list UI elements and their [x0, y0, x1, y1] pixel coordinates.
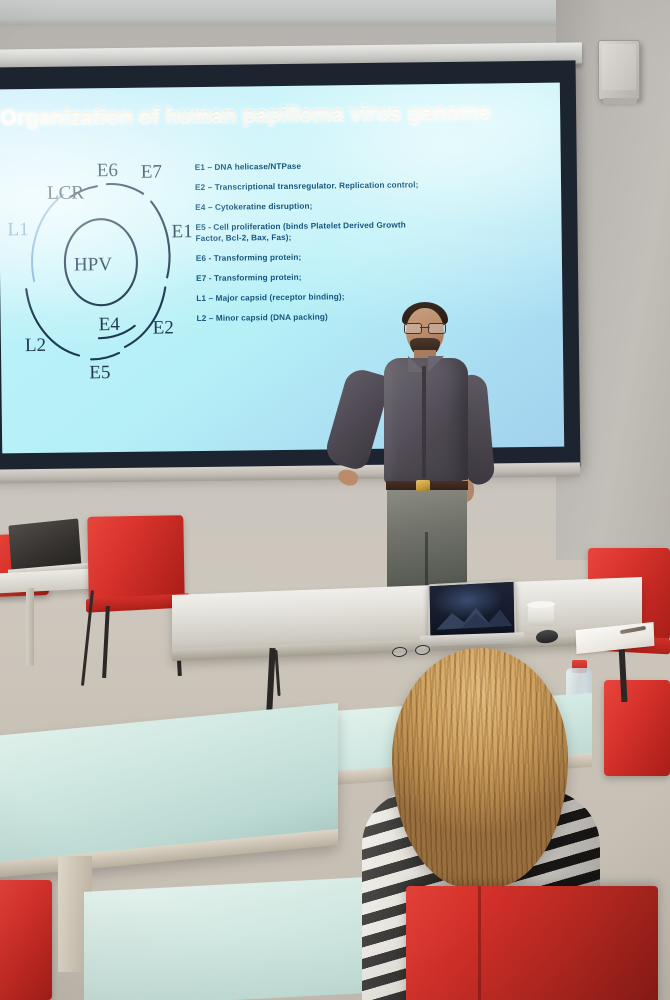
attendee-hair-strands [392, 648, 568, 888]
laptop-wallpaper-mountains [436, 604, 512, 630]
chair [604, 680, 670, 776]
lecture-room-photo: Organization of human papilloma virus ge… [0, 0, 670, 1000]
presenter-left-arm [323, 366, 392, 472]
presenter-belt-buckle [416, 480, 430, 491]
chair [0, 880, 52, 1000]
foreground-chair [406, 886, 658, 1000]
diagram-label-e4: E4 [99, 314, 121, 335]
diagram-label-l2: L2 [25, 335, 46, 356]
list-item: E4 – Cytokeratine disruption; [195, 200, 435, 213]
presenter [330, 296, 510, 606]
diagram-center-label: HPV [74, 254, 113, 275]
diagram-label-l1: L1 [7, 219, 28, 240]
chair [87, 515, 184, 601]
table-leg [26, 588, 34, 666]
diagram-label-e6: E6 [97, 160, 118, 181]
diagram-label-e7: E7 [141, 161, 162, 182]
list-item: E2 – Transcriptional transregulator. Rep… [195, 180, 435, 193]
diagram-label-e1: E1 [171, 221, 192, 242]
chair-back [87, 515, 184, 601]
diagram-label-e2: E2 [153, 317, 174, 338]
paper-cup [528, 604, 554, 627]
foreground-chair-seam [478, 886, 481, 1000]
presenter-shirt-placket [422, 366, 426, 478]
chair-back [604, 680, 670, 776]
list-item: E1 – DNA helicase/NTPase [195, 160, 435, 173]
foreground-table-near [84, 876, 384, 1000]
list-item: E6 - Transforming protein; [196, 251, 436, 264]
list-item: E7 - Transforming protein; [196, 271, 436, 284]
cup-rim [527, 601, 555, 609]
presenter-torso [384, 358, 468, 484]
diagram-label-e5: E5 [89, 362, 110, 383]
hpv-genome-diagram: LCR E6 E7 E1 E2 E5 E4 L2 L1 HPV [5, 149, 208, 381]
speaker-grille [602, 44, 636, 90]
slide-title: Organization of human papilloma virus ge… [0, 99, 520, 130]
presenter-left-hand [336, 467, 360, 487]
presenter-glasses-icon [404, 323, 446, 332]
wall-speaker-icon [598, 40, 640, 100]
list-item: E5 - Cell proliferation (binds Platelet … [195, 220, 435, 244]
diagram-label-lcr: LCR [47, 182, 85, 203]
presenter-collar [406, 356, 446, 374]
chair-back [0, 880, 52, 1000]
